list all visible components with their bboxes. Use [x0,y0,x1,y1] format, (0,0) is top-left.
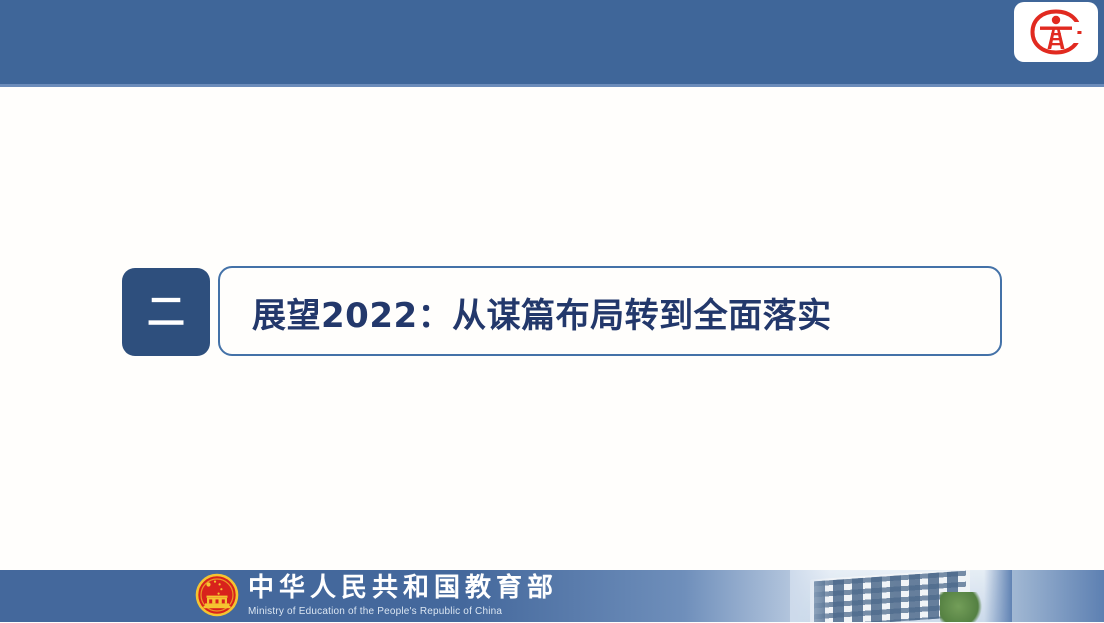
logo-plate [1014,2,1098,62]
section-heading: 二 展望2022：从谋篇布局转到全面落实 [122,266,1004,358]
top-banner-edge [0,84,1104,87]
china-national-emblem-icon [194,572,240,618]
photo-fade-left [790,570,830,622]
presentation-slide: 二 展望2022：从谋篇布局转到全面落实 [0,0,1104,622]
top-banner [0,0,1104,84]
china-education-tv-logo-icon [1029,8,1083,56]
photo-fade-right [984,570,1012,622]
section-title: 展望2022：从谋篇布局转到全面落实 [252,266,832,358]
footer-title-english: Ministry of Education of the People's Re… [248,605,558,618]
footer-title-chinese: 中华人民共和国教育部 [248,574,558,602]
footer-ministry-text: 中华人民共和国教育部 Ministry of Education of the … [248,570,558,622]
section-number-label: 二 [147,293,185,331]
ministry-building-photo [790,570,1012,622]
photo-tree [940,592,986,622]
section-number-badge: 二 [122,268,210,356]
